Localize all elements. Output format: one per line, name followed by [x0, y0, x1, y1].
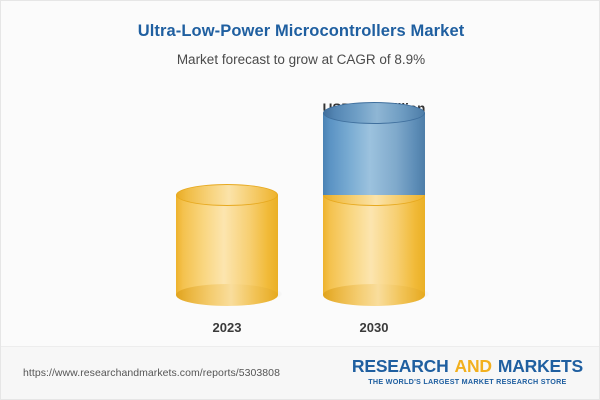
bar-2030: [323, 113, 425, 295]
category-label-2023: 2023: [147, 320, 307, 335]
footer-bar: https://www.researchandmarkets.com/repor…: [1, 346, 600, 399]
chart-header: Ultra-Low-Power Microcontrollers Market …: [1, 1, 600, 69]
logo-word-research: RESEARCH: [352, 356, 449, 376]
page-title: Ultra-Low-Power Microcontrollers Market: [1, 21, 600, 41]
research-and-markets-logo[interactable]: RESEARCHANDMARKETS THE WORLD'S LARGEST M…: [352, 356, 583, 386]
bar-cap-bottom-2030: [323, 284, 425, 306]
bar-segment-base-2030: [323, 195, 425, 295]
chart-card: Ultra-Low-Power Microcontrollers Market …: [0, 0, 600, 400]
bar-cap-top-2023: [176, 184, 278, 206]
logo-word-markets: MARKETS: [498, 356, 583, 376]
bar-segment-base-2023: [176, 195, 278, 295]
logo-word-and: AND: [455, 356, 492, 376]
bar-cap-top-2030: [323, 102, 425, 124]
bar-segment-base-2023-body: [176, 195, 278, 295]
bar-segment-base-2030-body: [323, 195, 425, 295]
category-label-2030: 2030: [294, 320, 454, 335]
logo-wordmark: RESEARCHANDMARKETS: [352, 356, 583, 376]
report-url[interactable]: https://www.researchandmarkets.com/repor…: [23, 367, 280, 379]
logo-tagline: THE WORLD'S LARGEST MARKET RESEARCH STOR…: [352, 377, 583, 386]
bar-cap-bottom-2023: [176, 284, 278, 306]
chart-plot-area: USD 6.3 Billion 2023 USD 11.4 Billion: [1, 81, 600, 341]
bar-segment-growth-2030-body: [323, 113, 425, 195]
bar-segment-growth-2030: [323, 113, 425, 195]
chart-subtitle: Market forecast to grow at CAGR of 8.9%: [1, 51, 600, 69]
bar-2023: [176, 195, 278, 295]
